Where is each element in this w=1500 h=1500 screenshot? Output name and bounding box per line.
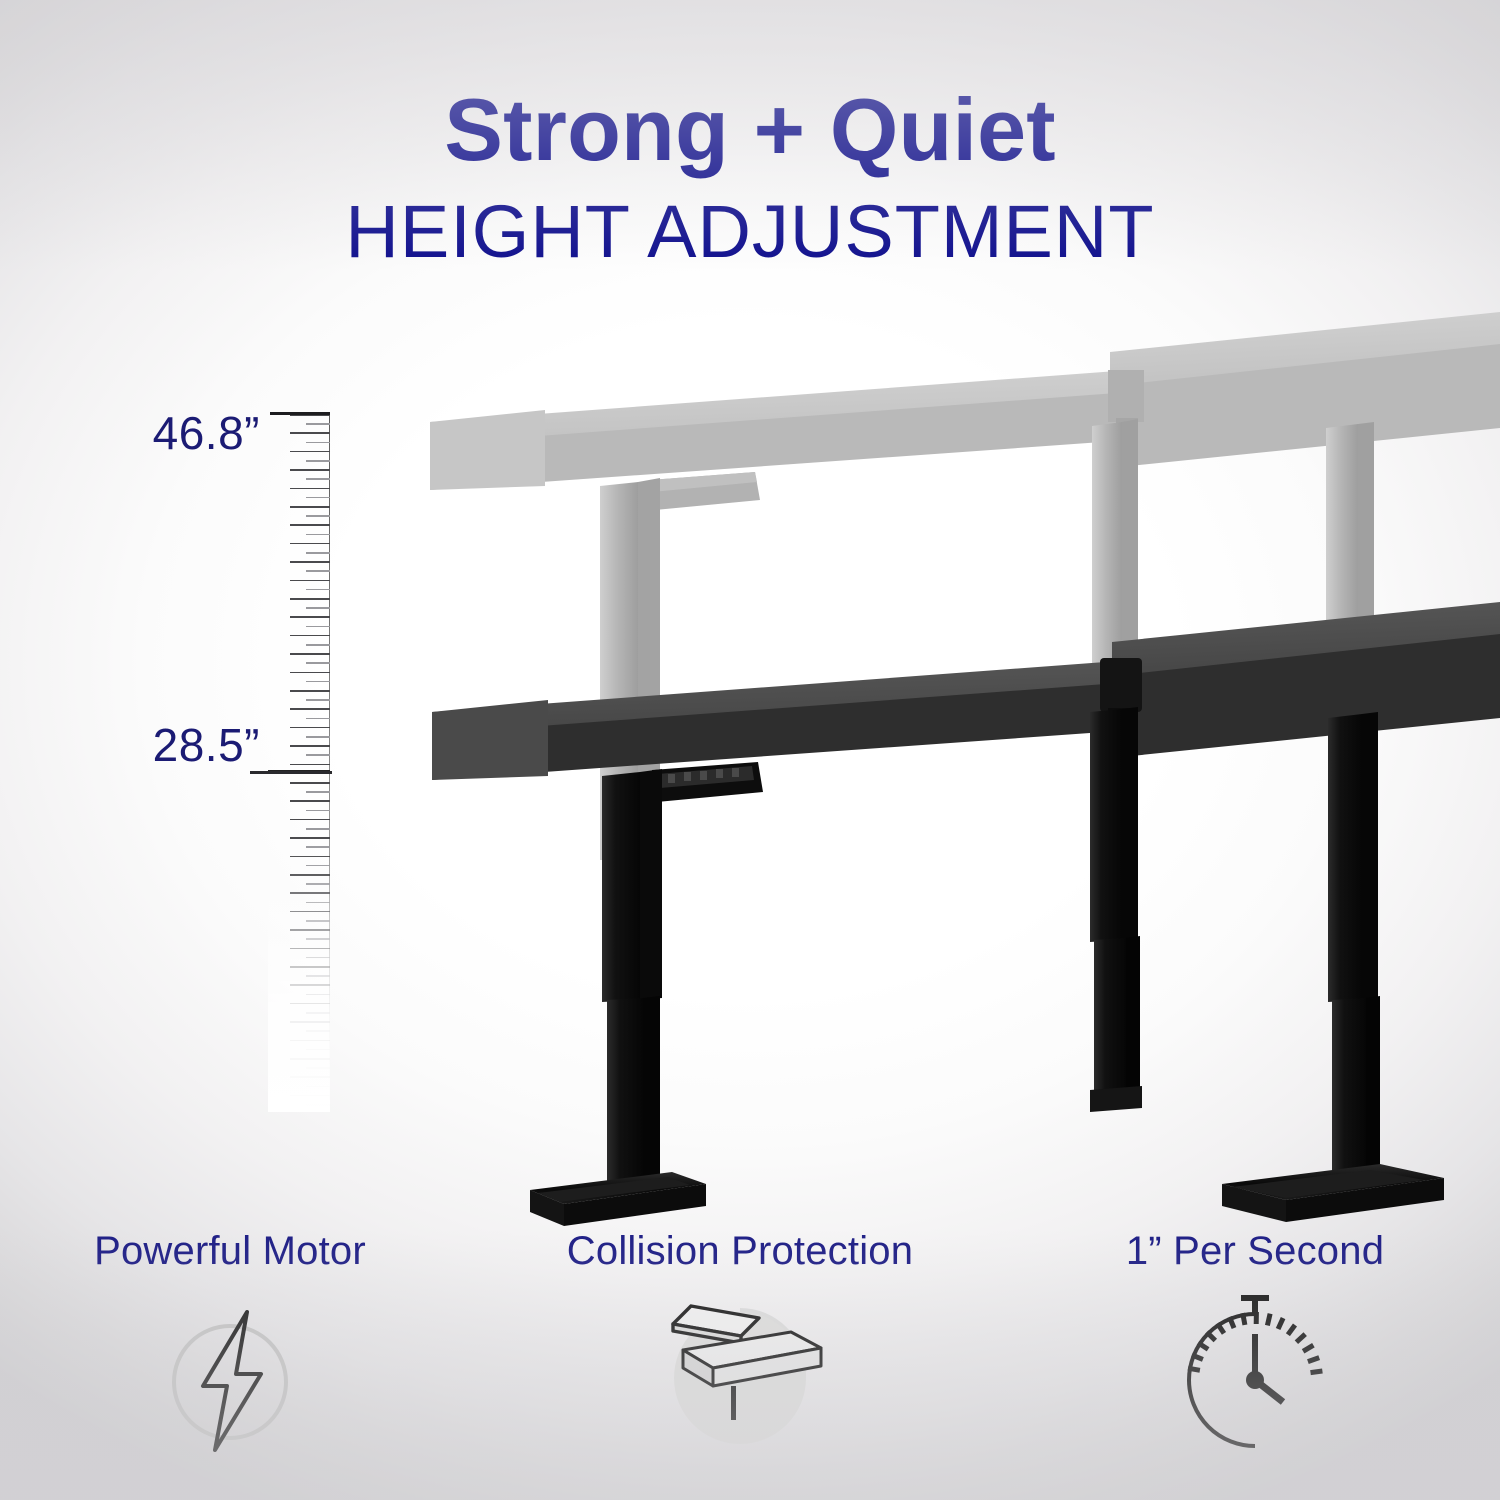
page-subtitle: HEIGHT ADJUSTMENT xyxy=(0,190,1500,274)
clock-tick xyxy=(1207,1332,1216,1340)
clock-tick xyxy=(1308,1358,1319,1362)
lowered-corner-bracket xyxy=(1100,658,1142,712)
infographic-canvas: Strong + Quiet HEIGHT ADJUSTMENT 46.8” 2… xyxy=(0,0,1500,1500)
clock-speed-icon xyxy=(1020,1290,1490,1466)
lightning-bolt-icon xyxy=(0,1290,465,1466)
desk-illustration xyxy=(0,300,1500,1260)
raised-desk-left-top xyxy=(430,370,1130,490)
lowered-desk-left-top xyxy=(432,660,1132,780)
lowered-desk-leg-left xyxy=(530,769,706,1226)
raised-desk-right-top xyxy=(1110,312,1500,468)
lowered-desk-right-top xyxy=(1112,602,1500,758)
feature-collision-protection: Collision Protection xyxy=(505,1228,975,1466)
lowered-desk xyxy=(432,602,1500,1226)
clock-tick xyxy=(1198,1343,1208,1350)
feature-speed: 1” Per Second xyxy=(1020,1228,1490,1466)
raised-corner-bracket xyxy=(1108,370,1144,422)
clock-tick xyxy=(1311,1371,1323,1373)
clock-tick xyxy=(1288,1325,1295,1335)
clock-tick xyxy=(1278,1318,1283,1329)
feature-label: Powerful Motor xyxy=(0,1228,465,1274)
clock-tick xyxy=(1303,1345,1313,1351)
lowered-desk-leg-right xyxy=(1222,712,1444,1222)
collision-desktop-icon xyxy=(505,1290,975,1466)
feature-label: Collision Protection xyxy=(505,1228,975,1274)
clock-tick xyxy=(1217,1323,1224,1333)
lowered-desk-leg-corner xyxy=(1090,707,1142,1112)
raised-desk-keypad xyxy=(650,472,760,510)
clock-tick xyxy=(1243,1313,1245,1325)
clock-tick xyxy=(1188,1368,1200,1370)
clock-tick xyxy=(1267,1314,1270,1326)
feature-powerful-motor: Powerful Motor xyxy=(0,1228,465,1466)
feature-label: 1” Per Second xyxy=(1020,1228,1490,1274)
lowered-desk-keypad[interactable] xyxy=(652,762,763,802)
clock-tick xyxy=(1296,1334,1305,1342)
page-title: Strong + Quiet xyxy=(0,82,1500,178)
